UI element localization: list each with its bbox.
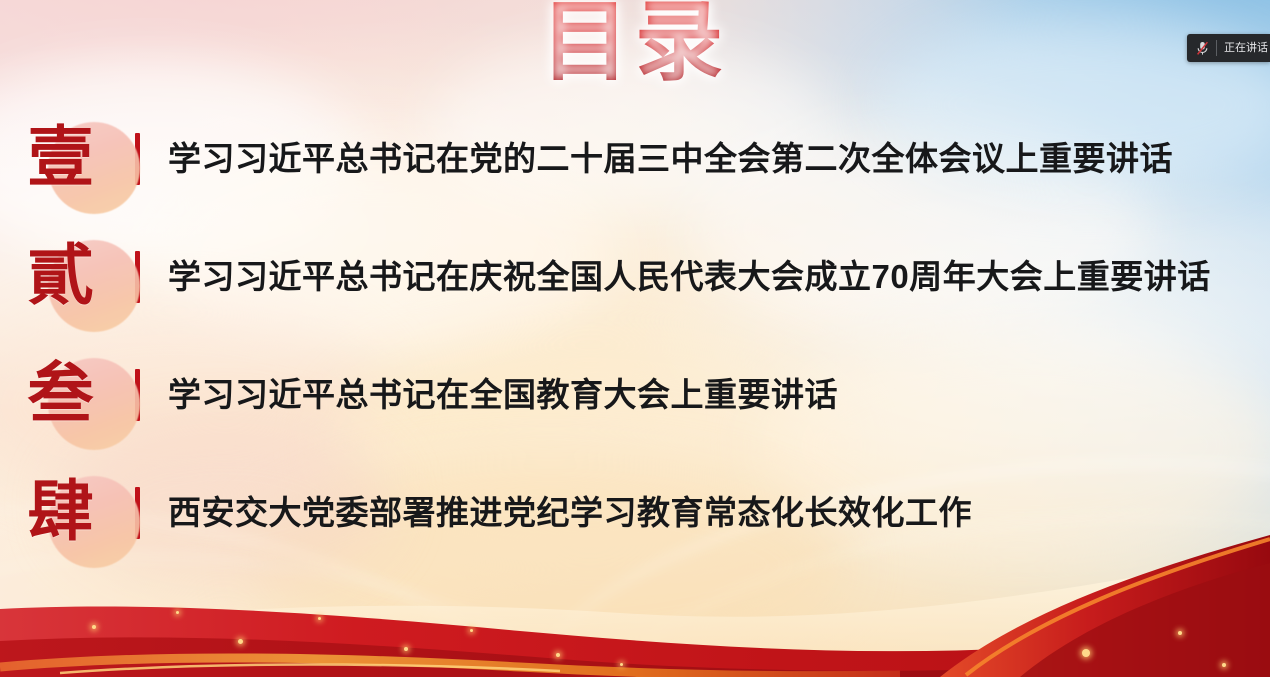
- meeting-speaking-overlay[interactable]: 正在讲话: [1187, 34, 1270, 62]
- ribbon-right-corner-dark: [1020, 563, 1270, 677]
- sparkle: [1082, 649, 1090, 657]
- toc-row[interactable]: 貳 学习习近平总书记在庆祝全国人民代表大会成立70周年大会上重要讲话: [0, 218, 1270, 336]
- toc-numeral: 叁: [28, 362, 94, 428]
- toc-row[interactable]: 肆 西安交大党委部署推进党纪学习教育常态化长效化工作: [0, 454, 1270, 572]
- sparkle: [556, 653, 560, 657]
- toc-numeral: 壹: [28, 126, 94, 192]
- toc-numeral-wrap: 貳: [0, 218, 135, 336]
- sparkle: [176, 611, 179, 614]
- toc-item-label: 西安交大党委部署推进党纪学习教育常态化长效化工作: [168, 492, 1270, 533]
- sparkle: [318, 617, 321, 620]
- toc-row[interactable]: 叁 学习习近平总书记在全国教育大会上重要讲话: [0, 336, 1270, 454]
- toc-item-label: 学习习近平总书记在党的二十届三中全会第二次全体会议上重要讲话: [168, 138, 1270, 179]
- sparkle: [1178, 631, 1182, 635]
- sparkle: [404, 647, 408, 651]
- toc-row[interactable]: 壹 学习习近平总书记在党的二十届三中全会第二次全体会议上重要讲话: [0, 100, 1270, 218]
- ribbon-gold-glow: [0, 658, 900, 676]
- sparkle: [238, 639, 243, 644]
- toc-numeral: 肆: [28, 480, 94, 546]
- toc-numeral-wrap: 叁: [0, 336, 135, 454]
- slide-title: 目录: [0, 0, 1270, 90]
- sparkle: [470, 629, 473, 632]
- microphone-muted-icon[interactable]: [1196, 41, 1209, 56]
- toc-numeral-wrap: 肆: [0, 454, 135, 572]
- sparkle: [92, 625, 96, 629]
- ribbon-red-main: [0, 601, 1270, 677]
- ribbon-gold-thin: [60, 665, 560, 674]
- overlay-separator: [1216, 40, 1217, 56]
- toc-numeral: 貳: [28, 244, 94, 310]
- sparkle: [620, 663, 623, 666]
- ribbon-red-dark: [0, 633, 1270, 677]
- sparkle: [1222, 663, 1226, 667]
- table-of-contents-list: 壹 学习习近平总书记在党的二十届三中全会第二次全体会议上重要讲话 貳 学习习近平…: [0, 100, 1270, 572]
- toc-item-label: 学习习近平总书记在庆祝全国人民代表大会成立70周年大会上重要讲话: [168, 256, 1270, 297]
- presentation-slide: 目录 壹 学习习近平总书记在党的二十届三中全会第二次全体会议上重要讲话 貳 学习…: [0, 0, 1270, 677]
- toc-numeral-wrap: 壹: [0, 100, 135, 218]
- toc-item-label: 学习习近平总书记在全国教育大会上重要讲话: [168, 374, 1270, 415]
- speaking-status-label: 正在讲话: [1224, 43, 1268, 54]
